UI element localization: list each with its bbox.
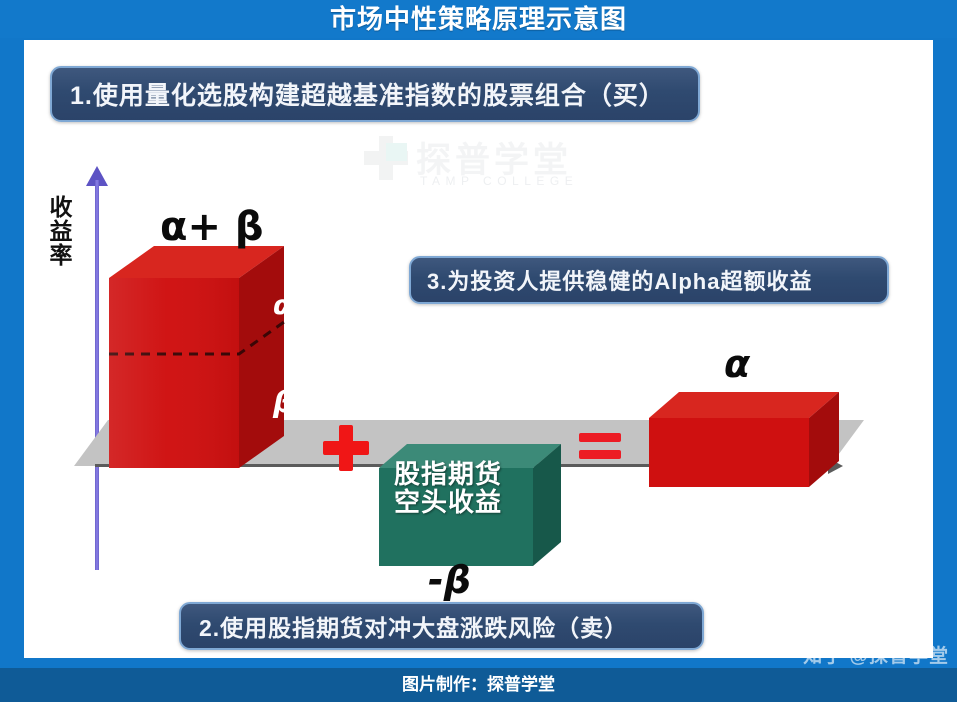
y-axis-label: 收益率 <box>46 195 76 267</box>
credit-label: 图片制作：探普学堂 <box>0 668 957 702</box>
stock-portfolio-bar <box>109 246 329 468</box>
equals-operator-icon <box>579 433 621 463</box>
alpha-segment-label: α <box>273 290 292 321</box>
result-bar <box>649 392 839 487</box>
diagram-page: 市场中性策略原理示意图 探普学堂 TAMP COLLEGE 1.使用量化选股构建… <box>0 0 957 702</box>
callout-step-2: 2.使用股指期货对冲大盘涨跌风险（卖） <box>179 602 704 650</box>
stock-portfolio-top-label: α+ β <box>160 204 264 250</box>
zhihu-watermark: 知乎 @探普学堂 <box>803 641 949 668</box>
beta-segment-label: β <box>273 385 294 419</box>
futures-short-bar-line1: 股指期货 <box>394 460 544 488</box>
callout-step-3: 3.为投资人提供稳健的Alpha超额收益 <box>409 256 889 304</box>
plus-operator-icon <box>323 425 369 471</box>
title-banner: 市场中性策略原理示意图 <box>0 0 957 38</box>
negative-beta-label: -β <box>428 558 471 602</box>
futures-short-bar-line2: 空头收益 <box>394 488 544 516</box>
callout-step-1-label: 1.使用量化选股构建超越基准指数的股票组合（买） <box>70 76 665 112</box>
credit-banner: 图片制作：探普学堂 <box>0 668 957 702</box>
callout-step-1: 1.使用量化选股构建超越基准指数的股票组合（买） <box>50 66 700 122</box>
watermark-english-text: TAMP COLLEGE <box>420 174 578 188</box>
result-bar-top-label: α <box>724 342 750 386</box>
futures-short-bar-label: 股指期货 空头收益 <box>394 460 544 516</box>
brand-watermark: 探普学堂 TAMP COLLEGE <box>364 132 634 194</box>
plus-cross-logo-icon <box>364 136 408 180</box>
callout-step-2-label: 2.使用股指期货对冲大盘涨跌风险（卖） <box>199 609 628 643</box>
y-axis-line <box>95 180 99 570</box>
page-title: 市场中性策略原理示意图 <box>0 0 957 38</box>
callout-step-3-label: 3.为投资人提供稳健的Alpha超额收益 <box>427 264 812 296</box>
diagram-canvas: 探普学堂 TAMP COLLEGE 1.使用量化选股构建超越基准指数的股票组合（… <box>24 40 933 658</box>
